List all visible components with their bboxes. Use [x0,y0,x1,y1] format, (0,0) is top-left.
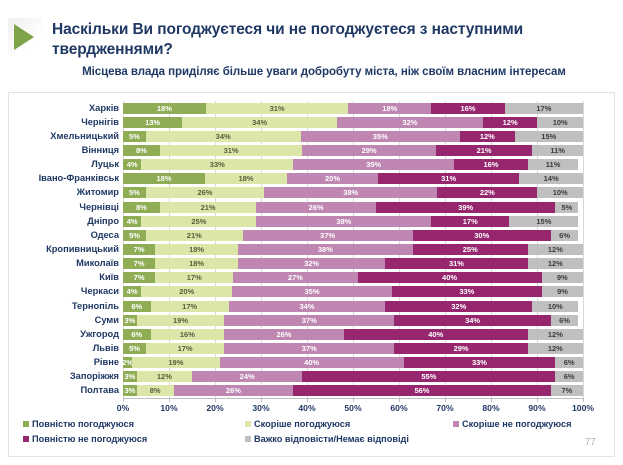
bar-row[interactable]: 5%17%37%29%12% [123,343,583,354]
legend-label: Скоріше погоджуюся [254,419,350,429]
bar-segment[interactable]: 30% [413,230,551,241]
bar-segment[interactable]: 12% [483,117,538,128]
bar-segment[interactable]: 21% [160,202,257,213]
bar-segment[interactable]: 10% [532,301,578,312]
bar-segment[interactable]: 7% [123,244,155,255]
bar-segment[interactable]: 20% [141,286,232,297]
x-axis-tick [399,398,400,402]
bar-segment[interactable]: 11% [532,145,583,156]
category-label: Миколаїв [15,258,123,269]
bar-segment[interactable]: 34% [394,315,550,326]
category-label: Луцьк [15,159,123,170]
chart-legend: Повністю погоджуюсяСкоріше погоджуюсяСко… [23,419,603,449]
x-axis-tick-label: 100% [572,403,594,413]
bar-segment[interactable]: 6% [555,371,583,382]
x-axis-tick [261,398,262,402]
category-label: Кропивницький [15,244,123,255]
bar-row[interactable]: 4%20%35%33%9% [123,286,583,297]
bar-segment[interactable]: 18% [155,258,238,269]
bar-segment[interactable]: 34% [182,117,337,128]
bar-row[interactable]: 8%21%26%39%5% [123,202,583,213]
x-axis-tick-label: 30% [252,403,269,413]
bar-row[interactable]: 5%21%37%30%6% [123,230,583,241]
gridline [583,101,584,398]
bar-segment[interactable]: 32% [385,301,532,312]
category-label: Черкаси [15,286,123,297]
bar-segment[interactable]: 26% [174,385,294,396]
bar-segment[interactable]: 12% [528,329,583,340]
legend-swatch-icon [23,436,29,442]
bar-segment[interactable]: 19% [132,357,219,368]
bar-segment[interactable]: 12% [528,343,583,354]
bar-segment[interactable]: 37% [224,315,394,326]
x-axis-tick-label: 90% [528,403,545,413]
bar-segment[interactable]: 17% [151,301,229,312]
bar-row[interactable]: 18%31%18%16%17% [123,103,583,114]
bar-segment[interactable]: 4% [123,159,141,170]
bar-segment[interactable]: 3% [123,315,137,326]
bar-segment[interactable]: 7% [123,258,155,269]
bar-segment[interactable]: 10% [537,117,583,128]
bar-segment[interactable]: 25% [413,244,528,255]
bar-segment[interactable]: 6% [123,301,151,312]
bar-segment[interactable]: 29% [302,145,435,156]
bar-segment[interactable]: 37% [224,343,394,354]
bar-segment[interactable]: 35% [293,159,454,170]
bar-segment[interactable]: 38% [264,187,437,198]
bar-segment[interactable]: 17% [146,343,224,354]
category-label: Івано-Франківськ [15,173,123,184]
bar-segment[interactable]: 29% [394,343,527,354]
legend-row-primary: Повністю погоджуюсяСкоріше погоджуюсяСко… [23,419,603,434]
bar-segment[interactable]: 22% [437,187,537,198]
x-axis-tick [123,398,124,402]
bar-segment[interactable]: 56% [293,385,551,396]
bar-segment[interactable]: 2% [123,357,132,368]
category-label: Полтава [15,385,123,396]
bar-segment[interactable]: 4% [123,286,141,297]
bar-row[interactable]: 5%26%38%22%10% [123,187,583,198]
category-axis: ХарківЧернігівХмельницькийВінницяЛуцькІв… [9,101,123,398]
x-axis-tick-label: 10% [160,403,177,413]
bar-segment[interactable]: 6% [555,357,583,368]
bar-segment[interactable]: 26% [146,187,264,198]
bar-segment[interactable]: 34% [229,301,385,312]
bar-segment[interactable]: 39% [376,202,555,213]
bar-segment[interactable]: 40% [358,272,542,283]
bar-segment[interactable]: 3% [123,385,137,396]
bar-segment[interactable]: 27% [233,272,357,283]
x-axis-tick [353,398,354,402]
category-label: Житомир [15,187,123,198]
legend-item[interactable]: Важко відповісти/Немає відповіді [245,434,409,444]
legend-swatch-icon [453,421,459,427]
bar-segment[interactable]: 35% [232,286,391,297]
bar-segment[interactable]: 6% [551,315,579,326]
bar-segment[interactable]: 31% [160,145,303,156]
bar-row[interactable]: 4%25%38%17%15% [123,216,583,227]
x-axis-tick-label: 80% [482,403,499,413]
plot-area: 18%31%18%16%17%13%34%32%12%10%5%34%35%12… [123,101,583,398]
legend-label: Повністю погоджуюся [32,419,134,429]
bar-row[interactable]: 8%31%29%21%11% [123,145,583,156]
bar-segment[interactable]: 20% [287,173,378,184]
category-label: Запоріжжя [15,371,123,382]
bar-segment[interactable]: 15% [515,131,583,142]
legend-item[interactable]: Повністю не погоджуюся [23,434,147,444]
bar-row[interactable]: 3%12%24%55%6% [123,371,583,382]
category-label: Чернігів [15,117,123,128]
legend-label: Важко відповісти/Немає відповіді [254,434,409,444]
bar-segment[interactable]: 12% [460,131,515,142]
bar-segment[interactable]: 37% [243,230,413,241]
bar-segment[interactable]: 18% [123,103,206,114]
bar-segment[interactable]: 33% [141,159,293,170]
category-label: Тернопіль [15,301,123,312]
legend-swatch-icon [23,421,29,427]
bar-segment[interactable]: 11% [528,159,579,170]
x-axis-tick-label: 60% [390,403,407,413]
bar-segment[interactable]: 33% [392,286,542,297]
x-axis-tick-label: 20% [206,403,223,413]
x-axis-tick [215,398,216,402]
chart-container: ХарківЧернігівХмельницькийВінницяЛуцькІв… [8,92,615,457]
bar-segment[interactable]: 17% [431,216,509,227]
category-label: Львів [15,343,123,354]
bar-row[interactable]: 7%18%38%25%12% [123,244,583,255]
category-label: Дніпро [15,216,123,227]
bar-row[interactable]: 2%19%40%33%6% [123,357,583,368]
x-axis-tick [169,398,170,402]
bar-segment[interactable]: 18% [348,103,431,114]
category-label: Ужгород [15,329,123,340]
bar-row[interactable]: 4%33%35%16%11% [123,159,583,170]
bar-segment[interactable]: 18% [205,173,287,184]
bar-segment[interactable]: 18% [155,244,238,255]
bar-segment[interactable]: 16% [151,329,225,340]
bar-row[interactable]: 3%19%37%34%6% [123,315,583,326]
bar-segment[interactable]: 18% [123,173,205,184]
bar-segment[interactable]: 5% [123,131,146,142]
x-axis-tick [491,398,492,402]
chart-subtitle: Місцева влада приділяє більше уваги добр… [44,66,604,78]
bar-segment[interactable]: 9% [542,272,583,283]
bar-segment[interactable]: 7% [551,385,583,396]
bar-segment[interactable]: 24% [192,371,302,382]
x-axis-tick-label: 0% [117,403,129,413]
bar-segment[interactable]: 32% [238,258,385,269]
legend-label: Повністю не погоджуюся [32,434,147,444]
bar-row[interactable]: 6%17%34%32%10% [123,301,583,312]
bar-segment[interactable]: 16% [454,159,528,170]
bar-row[interactable]: 7%17%27%40%9% [123,272,583,283]
legend-label: Скоріше не погоджуюся [462,419,571,429]
legend-item[interactable]: Повністю погоджуюся [23,419,134,429]
x-axis-tick [445,398,446,402]
bar-segment[interactable]: 7% [123,272,155,283]
bar-segment[interactable]: 17% [505,103,583,114]
bar-segment[interactable]: 4% [123,216,141,227]
page-title: Наскільки Ви погоджуєтеся чи не погоджує… [52,20,604,60]
page-number: 77 [585,437,596,448]
category-label: Харків [15,103,123,114]
legend-item[interactable]: Скоріше погоджуюся [245,419,350,429]
bar-segment[interactable]: 21% [146,230,243,241]
bar-segment[interactable]: 32% [337,117,483,128]
bar-segment[interactable]: 8% [123,202,160,213]
bar-segment[interactable]: 5% [555,202,578,213]
category-label: Рівне [15,357,123,368]
category-label: Хмельницький [15,131,123,142]
bar-segment[interactable]: 13% [123,117,182,128]
category-label: Одеса [15,230,123,241]
bar-segment[interactable]: 12% [137,371,192,382]
bar-segment[interactable]: 17% [155,272,233,283]
category-label: Чернівці [15,202,123,213]
bar-row[interactable]: 3%8%26%56%7% [123,385,583,396]
bar-segment[interactable]: 31% [385,258,528,269]
slide-header: Наскільки Ви погоджуєтеся чи не погоджує… [0,0,623,66]
bar-row[interactable]: 7%18%32%31%12% [123,258,583,269]
x-axis-tick [307,398,308,402]
slide-root: Наскільки Ви погоджуєтеся чи не погоджує… [0,0,623,465]
category-label: Суми [15,315,123,326]
bar-segment[interactable]: 3% [123,371,137,382]
bar-segment[interactable]: 21% [436,145,533,156]
bar-segment[interactable]: 6% [123,329,151,340]
x-axis-tick-label: 70% [436,403,453,413]
bar-row[interactable]: 5%34%35%12%15% [123,131,583,142]
x-axis-tick-label: 50% [344,403,361,413]
bar-row[interactable]: 6%16%26%40%12% [123,329,583,340]
x-axis-tick [537,398,538,402]
bar-rows: 18%31%18%16%17%13%34%32%12%10%5%34%35%12… [123,101,583,398]
x-axis-tick [583,398,584,402]
bar-segment[interactable]: 26% [256,202,376,213]
bar-segment[interactable]: 8% [137,385,174,396]
bar-segment[interactable]: 5% [123,187,146,198]
bar-segment[interactable]: 10% [537,187,583,198]
bar-segment[interactable]: 8% [123,145,160,156]
bar-segment[interactable]: 9% [542,286,583,297]
bar-segment[interactable]: 55% [302,371,555,382]
category-label: Київ [15,272,123,283]
bar-segment[interactable]: 16% [431,103,505,114]
bar-segment[interactable]: 34% [146,131,301,142]
bar-segment[interactable]: 5% [123,343,146,354]
legend-row-secondary: Повністю не погоджуюсяВажко відповісти/Н… [23,434,603,449]
bar-segment[interactable]: 25% [141,216,256,227]
play-triangle-icon [14,24,34,50]
bar-segment[interactable]: 12% [528,244,583,255]
bar-segment[interactable]: 31% [378,173,519,184]
category-label: Вінниця [15,145,123,156]
legend-item[interactable]: Скоріше не погоджуюся [453,419,571,429]
bar-segment[interactable]: 5% [123,230,146,241]
bar-row[interactable]: 13%34%32%12%10% [123,117,583,128]
bar-segment[interactable]: 38% [238,244,413,255]
legend-swatch-icon [245,436,251,442]
bar-segment[interactable]: 12% [528,258,583,269]
bar-segment[interactable]: 14% [519,173,583,184]
x-axis-tick-label: 40% [298,403,315,413]
bar-segment[interactable]: 31% [206,103,349,114]
bar-segment[interactable]: 15% [509,216,578,227]
bar-segment[interactable]: 40% [220,357,404,368]
bar-row[interactable]: 18%18%20%31%14% [123,173,583,184]
bar-segment[interactable]: 26% [224,329,344,340]
legend-swatch-icon [245,421,251,427]
bar-segment[interactable]: 40% [344,329,528,340]
bar-segment[interactable]: 38% [256,216,431,227]
bar-segment[interactable]: 35% [301,131,460,142]
bar-segment[interactable]: 19% [137,315,224,326]
bar-segment[interactable]: 6% [551,230,579,241]
bar-segment[interactable]: 33% [404,357,556,368]
